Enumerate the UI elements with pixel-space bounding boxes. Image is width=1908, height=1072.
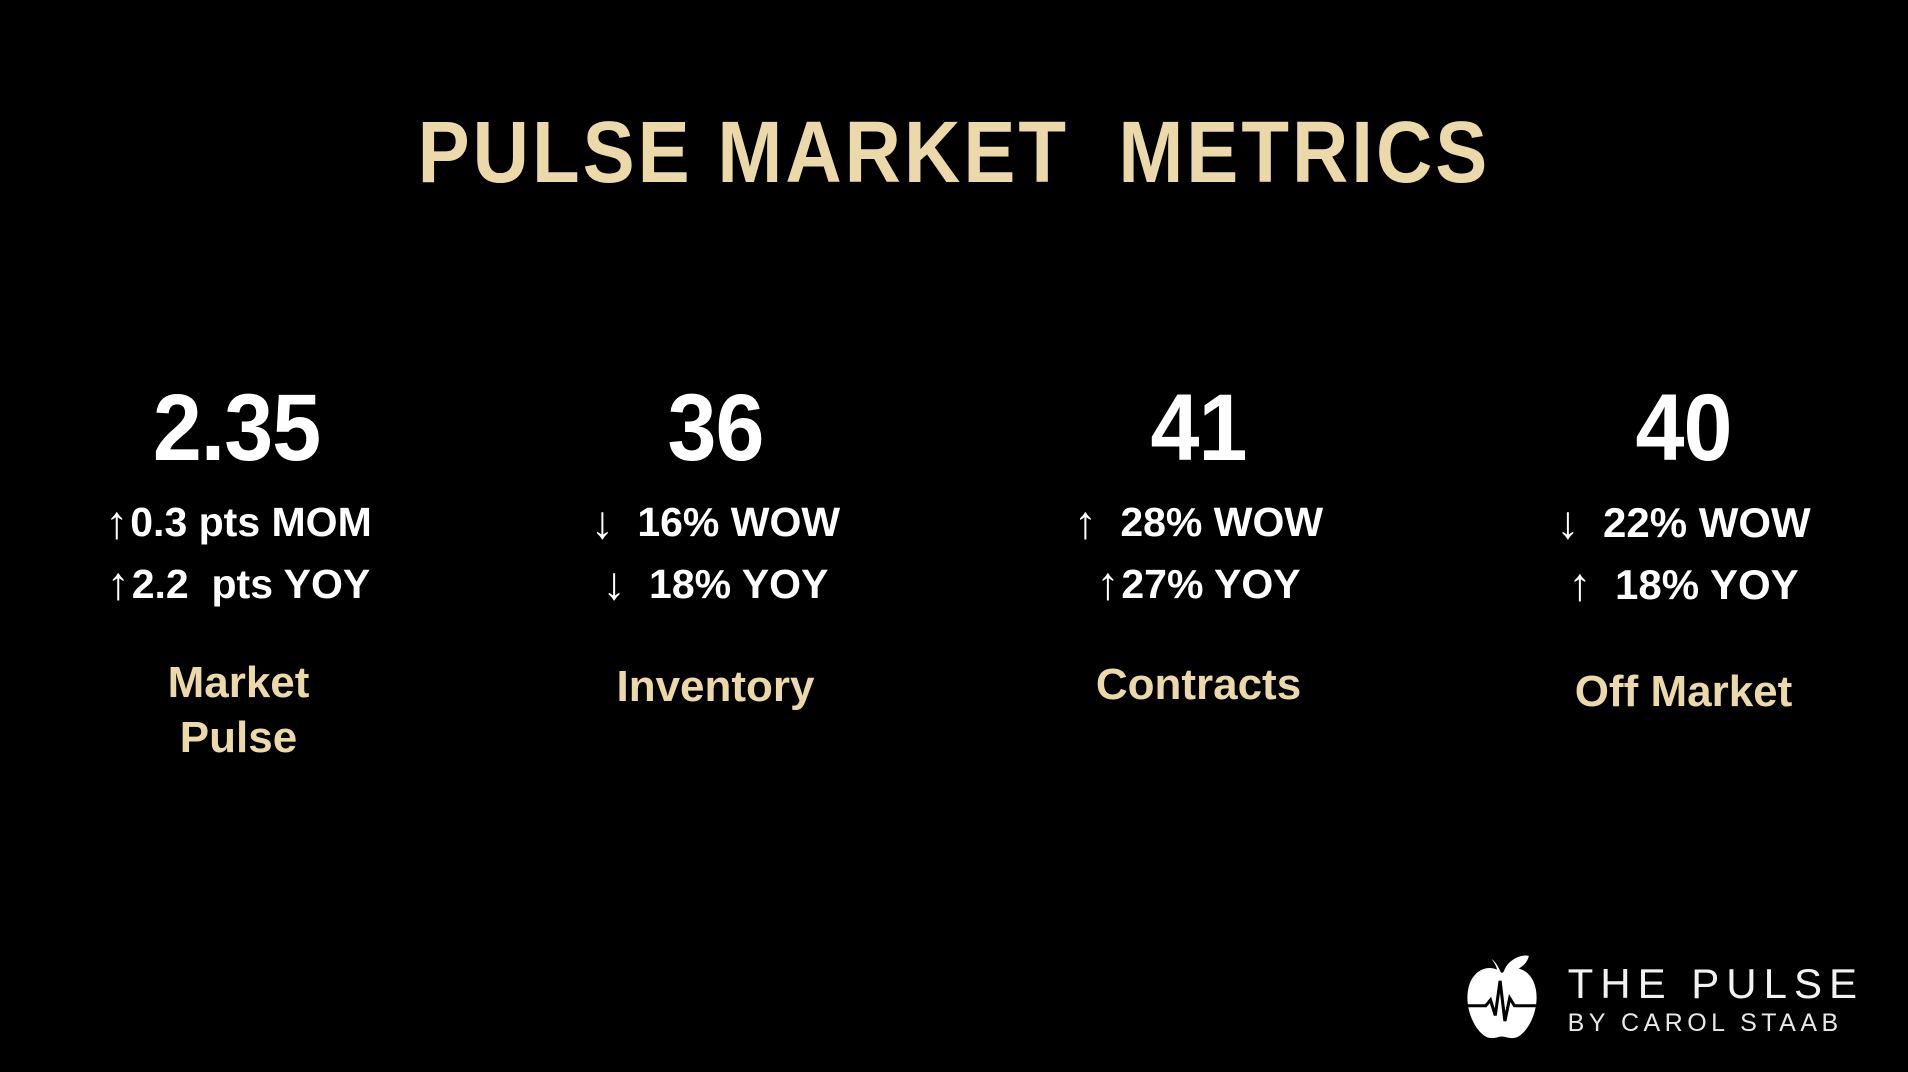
metric-delta-text: 16% WOW bbox=[626, 502, 840, 543]
brand-logo: THE PULSE BY CAROL STAAB bbox=[1454, 952, 1864, 1048]
metric-value: 36 bbox=[668, 380, 764, 475]
arrow-down-icon: ↓ bbox=[603, 563, 626, 604]
metric-label: Contracts bbox=[1096, 657, 1301, 712]
metric-delta-primary: ↑ 0.3 pts MOM bbox=[105, 502, 371, 543]
page-title: PULSE MARKET METRICS bbox=[0, 108, 1908, 195]
metric-value: 2.35 bbox=[153, 380, 320, 475]
metric-delta-secondary: ↑ 2.2 pts YOY bbox=[107, 563, 371, 604]
metric-card-contracts: 41 ↑ 28% WOW ↑ 27% YOY Contracts bbox=[960, 380, 1437, 712]
metric-label: Off Market bbox=[1575, 664, 1793, 719]
metric-card-inventory: 36 ↓ 16% WOW ↓ 18% YOY Inventory bbox=[477, 380, 954, 714]
brand-tagline: BY CAROL STAAB bbox=[1568, 1010, 1864, 1038]
metric-delta-text: 18% YOY bbox=[1603, 564, 1798, 606]
metric-delta-text: 22% WOW bbox=[1591, 502, 1810, 544]
metrics-row: 2.35 ↑ 0.3 pts MOM ↑ 2.2 pts YOY Market … bbox=[0, 380, 1908, 800]
metric-delta-secondary: ↓ 18% YOY bbox=[603, 563, 829, 604]
metric-label: Market Pulse bbox=[168, 655, 310, 765]
metric-delta-primary: ↑ 28% WOW bbox=[1074, 502, 1323, 543]
arrow-up-icon: ↑ bbox=[1074, 502, 1097, 543]
apple-pulse-icon bbox=[1454, 952, 1550, 1048]
metric-delta-text: 18% YOY bbox=[638, 564, 829, 605]
metric-value: 41 bbox=[1151, 380, 1247, 475]
slide-canvas: PULSE MARKET METRICS 2.35 ↑ 0.3 pts MOM … bbox=[0, 0, 1908, 1072]
metric-delta-primary: ↓ 22% WOW bbox=[1556, 502, 1810, 544]
metric-delta-primary: ↓ 16% WOW bbox=[591, 502, 840, 543]
brand-logo-text: THE PULSE BY CAROL STAAB bbox=[1568, 962, 1864, 1038]
metric-delta-text: 27% YOY bbox=[1121, 564, 1300, 605]
arrow-up-icon: ↑ bbox=[1568, 564, 1591, 605]
arrow-down-icon: ↓ bbox=[591, 502, 614, 543]
metric-delta-secondary: ↑ 27% YOY bbox=[1096, 563, 1300, 604]
arrow-up-icon: ↑ bbox=[105, 502, 128, 543]
metric-value: 40 bbox=[1636, 380, 1732, 475]
arrow-down-icon: ↓ bbox=[1556, 502, 1579, 543]
metric-delta-text: 2.2 pts YOY bbox=[132, 564, 371, 605]
brand-name: THE PULSE bbox=[1568, 962, 1864, 1006]
arrow-up-icon: ↑ bbox=[1096, 563, 1119, 604]
metric-card-market-pulse: 2.35 ↑ 0.3 pts MOM ↑ 2.2 pts YOY Market … bbox=[0, 380, 477, 765]
metric-delta-secondary: ↑ 18% YOY bbox=[1568, 564, 1798, 606]
metric-card-off-market: 40 ↓ 22% WOW ↑ 18% YOY Off Market bbox=[1445, 380, 1908, 719]
metric-label: Inventory bbox=[616, 659, 814, 714]
metric-delta-text: 0.3 pts MOM bbox=[130, 502, 371, 543]
metric-delta-text: 28% WOW bbox=[1109, 502, 1323, 543]
arrow-up-icon: ↑ bbox=[107, 563, 130, 604]
